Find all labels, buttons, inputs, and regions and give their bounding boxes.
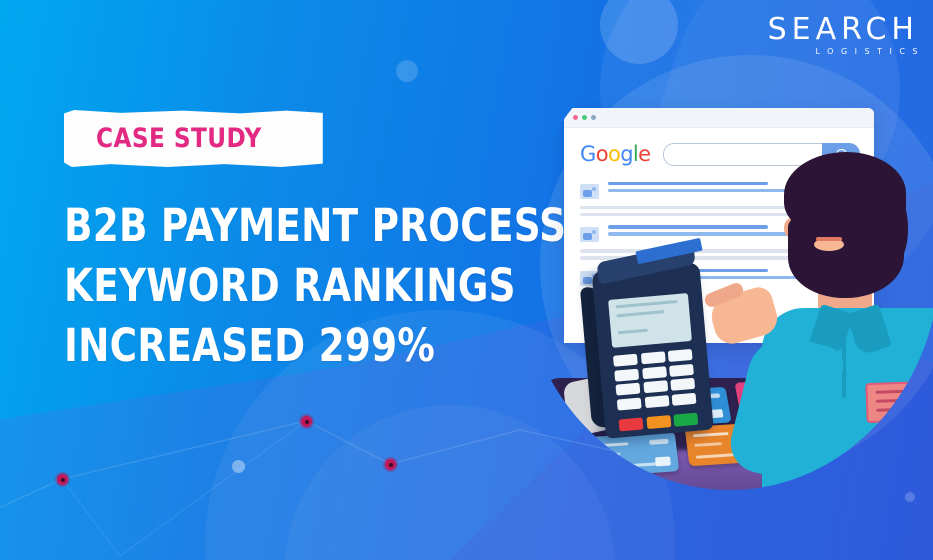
keypad-key[interactable] [670,378,695,391]
result-title-line [608,225,768,228]
hair-back [852,178,908,274]
headline-line-3: INCREASED 299% [64,316,496,376]
minimize-dot-icon[interactable] [582,115,587,120]
headline-line-1: B2B PAYMENT PROCESSING [64,196,496,256]
google-logo: Google [580,142,651,166]
enter-key[interactable] [673,413,698,427]
image-placeholder-icon [580,227,599,242]
badge-label: CASE STUDY [96,123,262,154]
network-node [301,416,312,427]
keypad-key[interactable] [643,380,668,393]
badge-paper: CASE STUDY [64,110,323,167]
case-study-banner: SEARCH LOGISTICS CASE STUDY B2B PAYMENT … [0,0,933,560]
keypad-key[interactable] [672,392,697,405]
cancel-key[interactable] [619,417,644,431]
page-title: B2B PAYMENT PROCESSING KEYWORD RANKINGS … [64,196,584,376]
image-placeholder-icon [580,184,599,199]
lip [816,237,842,241]
keypad-key[interactable] [668,349,693,362]
maximize-dot-icon[interactable] [591,115,596,120]
close-dot-icon[interactable] [573,115,578,120]
browser-titlebar [564,108,874,128]
network-node [385,459,396,470]
name-badge [865,381,932,423]
keypad-key[interactable] [617,397,642,410]
clear-key[interactable] [646,415,671,429]
keypad-key[interactable] [669,363,694,376]
case-study-badge: CASE STUDY [64,110,323,167]
hero-illustration: Google [520,30,933,490]
credit-card [585,432,680,478]
keypad-key[interactable] [615,383,640,396]
keypad-key[interactable] [613,354,638,367]
terminal-screen [608,293,692,348]
network-node [57,474,68,485]
terminal-function-keys[interactable] [619,412,702,431]
card-payment-terminal [590,247,721,438]
terminal-body [592,262,714,439]
keypad-key[interactable] [642,366,667,379]
bearded-man-illustration [756,142,933,490]
keypad-key[interactable] [614,368,639,381]
result-title-line [608,182,768,185]
headline-line-2: KEYWORD RANKINGS [64,256,496,316]
keypad-key[interactable] [640,351,665,364]
terminal-keypad[interactable] [613,349,699,410]
keypad-key[interactable] [644,395,669,408]
